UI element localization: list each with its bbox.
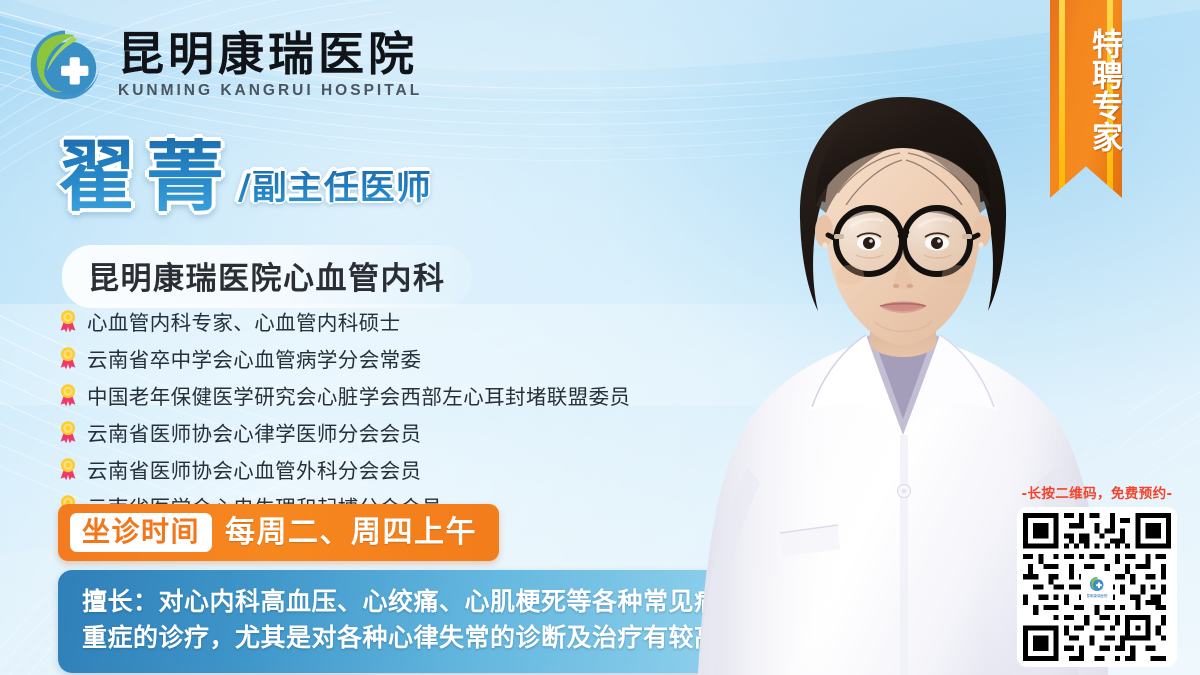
- qr-center-logo-caption: 昆明康瑞医院: [1087, 593, 1108, 598]
- specialty-line-2: 重症的诊疗，尤其是对各种心律失常的诊断及治疗有较高的造诣。: [82, 620, 696, 656]
- qr-center-logo: 昆明康瑞医院: [1081, 571, 1113, 603]
- list-item: 心血管内科专家、心血管内科硕士: [58, 306, 630, 336]
- credential-text: 心血管内科专家、心血管内科硕士: [87, 306, 401, 336]
- medal-icon: [58, 420, 78, 444]
- doctor-name: 翟菁: [58, 138, 234, 216]
- leaf-cross-medical-logo-icon: [26, 26, 104, 104]
- clinic-hours-bar: 坐诊时间 每周二、周四上午: [58, 504, 499, 561]
- qr-booking-block: -长按二维码，免费预约-: [1004, 482, 1190, 667]
- list-item: 云南省卒中学会心血管病学分会常委: [58, 343, 630, 373]
- specialty-line-1: 擅长：对心内科高血压、心绞痛、心肌梗死等各种常见病及急危: [82, 584, 696, 620]
- doctor-name-row: 翟菁 /副主任医师: [58, 138, 432, 216]
- credential-text: 云南省医师协会心律学医师分会会员: [87, 417, 421, 447]
- specialty-banner: 擅长：对心内科高血压、心绞痛、心肌梗死等各种常见病及急危 重症的诊疗，尤其是对各…: [58, 570, 720, 673]
- medal-icon: [58, 346, 78, 370]
- credential-text: 云南省卒中学会心血管病学分会常委: [87, 343, 421, 373]
- credentials-list: 心血管内科专家、心血管内科硕士 云南省卒中学会心血管病学分会常委 中国老年保健医…: [58, 306, 630, 521]
- medal-icon: [58, 457, 78, 481]
- clinic-hours-value: 每周二、周四上午: [225, 516, 477, 550]
- credential-text: 中国老年保健医学研究会心脏学会西部左心耳封堵联盟委员: [87, 380, 630, 410]
- hospital-name-en: KUNMING KANGRUI HOSPITAL: [118, 82, 422, 100]
- credential-text: 云南省医师协会心血管外科分会会员: [87, 454, 421, 484]
- list-item: 中国老年保健医学研究会心脏学会西部左心耳封堵联盟委员: [58, 380, 630, 410]
- doctor-profile-poster: 昆明康瑞医院 KUNMING KANGRUI HOSPITAL 特聘专家: [0, 0, 1200, 675]
- hospital-logo-row: 昆明康瑞医院 KUNMING KANGRUI HOSPITAL: [26, 26, 422, 104]
- list-item: 云南省医师协会心血管外科分会会员: [58, 454, 630, 484]
- hospital-name-block: 昆明康瑞医院 KUNMING KANGRUI HOSPITAL: [118, 30, 422, 101]
- qr-caption: -长按二维码，免费预约-: [1021, 482, 1172, 502]
- doctor-title: /副主任医师: [238, 171, 432, 216]
- hospital-mini-logo-icon: [1089, 576, 1105, 592]
- qr-card[interactable]: 昆明康瑞医院: [1017, 507, 1177, 667]
- list-item: 云南省医师协会心律学医师分会会员: [58, 417, 630, 447]
- medal-icon: [58, 309, 78, 333]
- clinic-hours-tag: 坐诊时间: [70, 513, 212, 552]
- doctor-department: 昆明康瑞医院心血管内科: [62, 245, 472, 308]
- hospital-name-cn: 昆明康瑞医院: [118, 30, 422, 80]
- medal-icon: [58, 383, 78, 407]
